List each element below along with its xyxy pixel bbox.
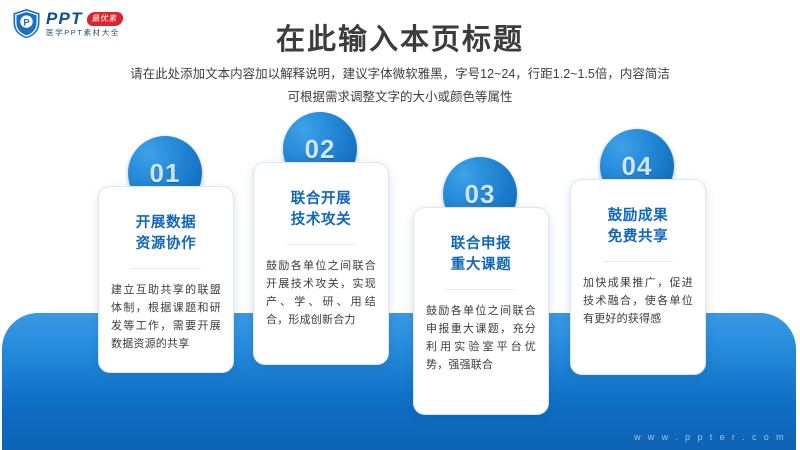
page-title: 在此输入本页标题 <box>0 16 800 58</box>
page-subtitle: 请在此处添加文本内容加以解释说明，建议字体微软雅黑，字号12~24，行距1.2~… <box>100 63 700 108</box>
step-card-divider-1 <box>131 268 201 269</box>
step-card-divider-2 <box>286 244 356 245</box>
step-card-body-3: 鼓励各单位之间联合申报重大课题，充分利用实验室平台优势，强强联合 <box>426 303 536 374</box>
page-subtitle-line-1: 请在此处添加文本内容加以解释说明，建议字体微软雅黑，字号12~24，行距1.2~… <box>100 63 700 86</box>
step-card-title-2-line-2: 技术攻关 <box>266 210 376 231</box>
step-card-body-2: 鼓励各单位之间联合开展技术攻关，实现产、学、研、用结合，形成创新合力 <box>266 258 376 329</box>
step-card-title-4-line-1: 鼓励成果 <box>583 206 693 227</box>
step-card-title-3-line-2: 重大课题 <box>426 255 536 276</box>
step-card-divider-4 <box>603 261 673 262</box>
step-card-title-2: 联合开展 技术攻关 <box>266 189 376 230</box>
step-card-3[interactable]: 联合申报 重大课题 鼓励各单位之间联合申报重大课题，充分利用实验室平台优势，强强… <box>413 207 549 415</box>
step-card-4[interactable]: 鼓励成果 免费共享 加快成果推广，促进技术融合，使各单位有更好的获得感 <box>570 179 706 375</box>
step-card-1[interactable]: 开展数据 资源协作 建立互助共享的联盟体制，根据课题和研发等工作，需要开展数据资… <box>98 186 234 373</box>
slide-canvas: P PPT 最优素 医学PPT素材大全 在此输入本页标题 请在此处添加文本内容加… <box>0 0 800 450</box>
step-card-body-4: 加快成果推广，促进技术融合，使各单位有更好的获得感 <box>583 275 693 328</box>
step-number-1: 01 <box>150 160 181 186</box>
step-number-3: 03 <box>465 181 496 207</box>
footer-url: w w w . p p t e r . c o m <box>634 432 786 442</box>
step-card-title-4-line-2: 免费共享 <box>583 227 693 248</box>
step-card-title-1: 开展数据 资源协作 <box>111 213 221 254</box>
step-card-divider-3 <box>446 289 516 290</box>
step-card-title-4: 鼓励成果 免费共享 <box>583 206 693 247</box>
step-card-title-3-line-1: 联合申报 <box>426 234 536 255</box>
step-card-title-1-line-2: 资源协作 <box>111 234 221 255</box>
page-subtitle-line-2: 可根据需求调整文字的大小或颜色等属性 <box>100 86 700 109</box>
step-card-title-3: 联合申报 重大课题 <box>426 234 536 275</box>
step-card-body-1: 建立互助共享的联盟体制，根据课题和研发等工作，需要开展数据资源的共享 <box>111 282 221 353</box>
step-number-4: 04 <box>622 153 653 179</box>
step-card-2[interactable]: 联合开展 技术攻关 鼓励各单位之间联合开展技术攻关，实现产、学、研、用结合，形成… <box>253 162 389 365</box>
step-number-2: 02 <box>305 136 336 162</box>
step-card-title-1-line-1: 开展数据 <box>111 213 221 234</box>
step-card-title-2-line-1: 联合开展 <box>266 189 376 210</box>
